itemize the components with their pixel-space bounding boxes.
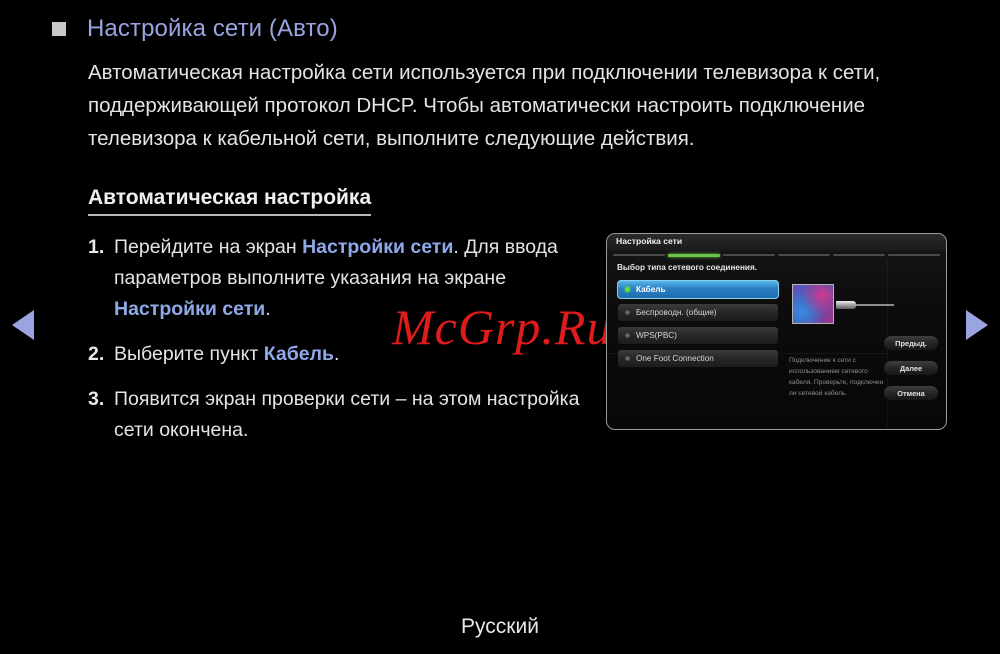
previous-button[interactable]: Предыд. bbox=[883, 335, 939, 351]
menu-item-label: Беспроводн. (общие) bbox=[636, 308, 717, 317]
highlighted-term: Настройки сети bbox=[302, 236, 453, 258]
tv-dialog-buttons: Предыд. Далее Отмена bbox=[883, 335, 939, 410]
progress-segment bbox=[723, 254, 775, 256]
progress-segment bbox=[613, 254, 665, 256]
led-green-icon bbox=[625, 287, 630, 292]
tv-prompt-label: Выбор типа сетевого соединения. bbox=[617, 263, 757, 272]
tv-network-setup-dialog: Настройка сети Выбор типа сетевого соеди… bbox=[606, 233, 947, 430]
lan-cable-plug-icon bbox=[836, 301, 856, 309]
tv-description-text: Подключение к сети с использованием сете… bbox=[789, 355, 892, 399]
list-item: 2. Выберите пункт Кабель. bbox=[88, 339, 598, 370]
menu-item-label: Кабель bbox=[636, 285, 666, 294]
progress-segment bbox=[778, 254, 830, 256]
step-text: Появится экран проверки сети – на этом н… bbox=[114, 384, 598, 446]
list-item: 3. Появится экран проверки сети – на это… bbox=[88, 384, 598, 446]
filled-square-bullet-icon bbox=[52, 22, 66, 36]
menu-item-one-foot-connection[interactable]: One Foot Connection bbox=[617, 349, 779, 368]
step-number: 3. bbox=[88, 384, 114, 446]
led-gray-icon bbox=[625, 333, 630, 338]
highlighted-term: Настройки сети bbox=[114, 298, 265, 320]
steps-list: 1. Перейдите на экран Настройки сети. Дл… bbox=[88, 232, 598, 460]
section-heading: Автоматическая настройка bbox=[88, 186, 371, 216]
menu-item-wps-pbc[interactable]: WPS(PBC) bbox=[617, 326, 779, 345]
list-item: 1. Перейдите на экран Настройки сети. Дл… bbox=[88, 232, 598, 325]
tv-dialog-body: Выбор типа сетевого соединения. Кабель Б… bbox=[607, 257, 946, 427]
step-number: 1. bbox=[88, 232, 114, 325]
step-number: 2. bbox=[88, 339, 114, 370]
led-gray-icon bbox=[625, 356, 630, 361]
progress-segment bbox=[888, 254, 940, 256]
step-text: Перейдите на экран Настройки сети. Для в… bbox=[114, 232, 598, 325]
menu-item-cable[interactable]: Кабель bbox=[617, 280, 779, 299]
progress-segment bbox=[833, 254, 885, 256]
menu-item-label: WPS(PBC) bbox=[636, 331, 677, 340]
triangle-right-icon[interactable] bbox=[966, 310, 988, 340]
intro-paragraph: Автоматическая настройка сети использует… bbox=[88, 56, 968, 155]
manual-page: Настройка сети (Авто) Автоматическая нас… bbox=[0, 0, 1000, 654]
page-title-row: Настройка сети (Авто) bbox=[52, 15, 338, 43]
tv-dialog-title: Настройка сети bbox=[607, 234, 946, 251]
led-gray-icon bbox=[625, 310, 630, 315]
menu-item-label: One Foot Connection bbox=[636, 354, 714, 363]
page-title: Настройка сети (Авто) bbox=[87, 15, 338, 43]
triangle-left-icon[interactable] bbox=[12, 310, 34, 340]
next-button[interactable]: Далее bbox=[883, 360, 939, 376]
cancel-button[interactable]: Отмена bbox=[883, 385, 939, 401]
step-text: Выберите пункт Кабель. bbox=[114, 339, 339, 370]
cable-connection-illustration bbox=[792, 280, 912, 335]
connection-type-menu: Кабель Беспроводн. (общие) WPS(PBC) One … bbox=[617, 280, 779, 372]
highlighted-term: Кабель bbox=[264, 343, 334, 365]
tv-screen-icon bbox=[792, 284, 834, 324]
footer-language-label: Русский bbox=[0, 615, 1000, 639]
menu-item-wireless-general[interactable]: Беспроводн. (общие) bbox=[617, 303, 779, 322]
